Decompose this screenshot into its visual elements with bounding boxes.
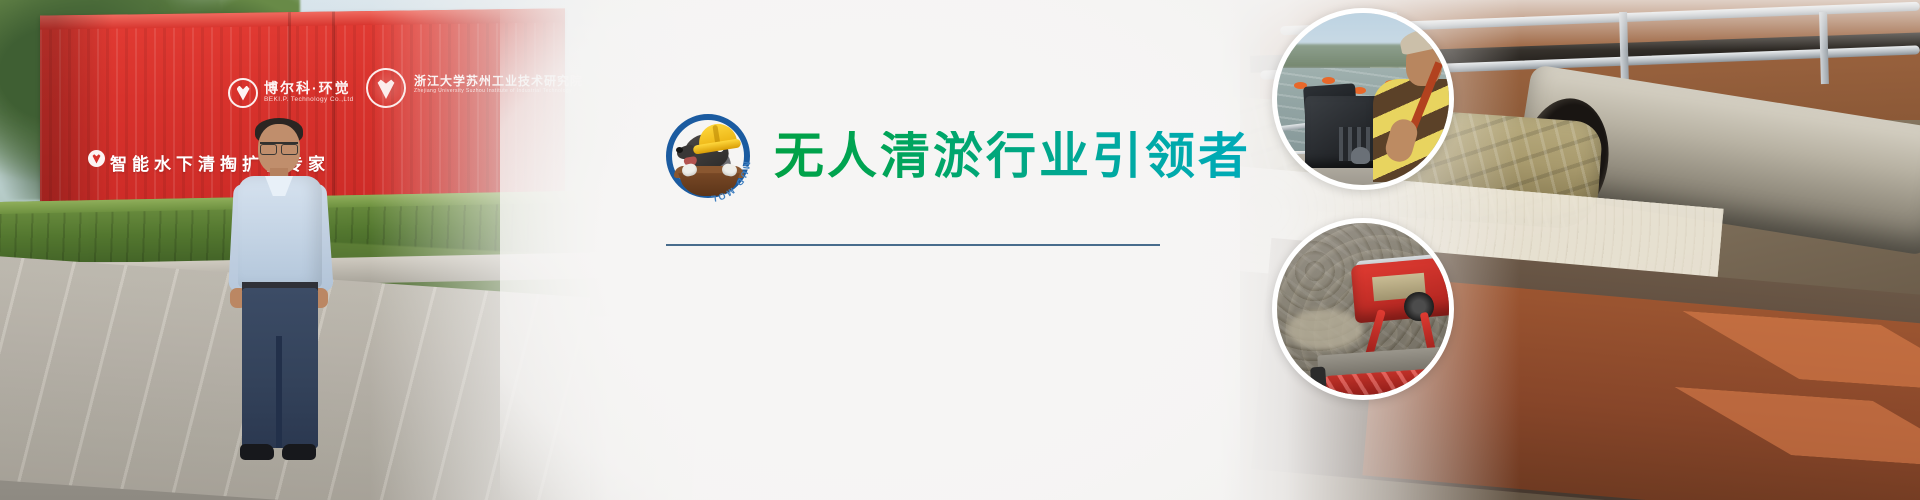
person-shoe-left bbox=[240, 444, 274, 460]
headline-row: MUD MOLE 无人清淤行业引领者 bbox=[660, 108, 1220, 204]
c1-float-buoy bbox=[1322, 77, 1335, 84]
person-glasses bbox=[260, 142, 298, 151]
c2-silt-patch bbox=[1287, 309, 1363, 350]
person-leg-split bbox=[276, 336, 282, 448]
c2-auger-endcap bbox=[1310, 367, 1327, 396]
container-brand-cn: 博尔科·环觉 bbox=[264, 78, 351, 98]
hero-banner: 博尔科·环觉 BEKI.P. Technology Co.,Ltd 浙江大学苏州… bbox=[0, 0, 1920, 500]
mud-mole-logo: MUD MOLE bbox=[660, 108, 756, 204]
circle-photo-dredging-robot bbox=[1272, 218, 1454, 400]
headline-divider bbox=[666, 244, 1160, 246]
c1-operator bbox=[1360, 23, 1454, 188]
circle-photo-operator bbox=[1272, 8, 1454, 190]
container-brand-en: BEKI.P. Technology Co.,Ltd bbox=[264, 96, 354, 103]
center-content: MUD MOLE 无人清淤行业引领者 bbox=[640, 0, 1240, 500]
page-title: 无人清淤行业引领者 bbox=[774, 131, 1251, 181]
slogan-badge-icon bbox=[88, 150, 105, 167]
person-engineer bbox=[218, 110, 348, 500]
mole-nose-icon bbox=[676, 147, 683, 153]
c2-robot-wheel bbox=[1404, 292, 1433, 321]
headline-block: MUD MOLE 无人清淤行业引领者 bbox=[660, 108, 1220, 204]
person-shoe-right bbox=[282, 444, 316, 460]
container-brand-logo-icon bbox=[228, 78, 258, 108]
